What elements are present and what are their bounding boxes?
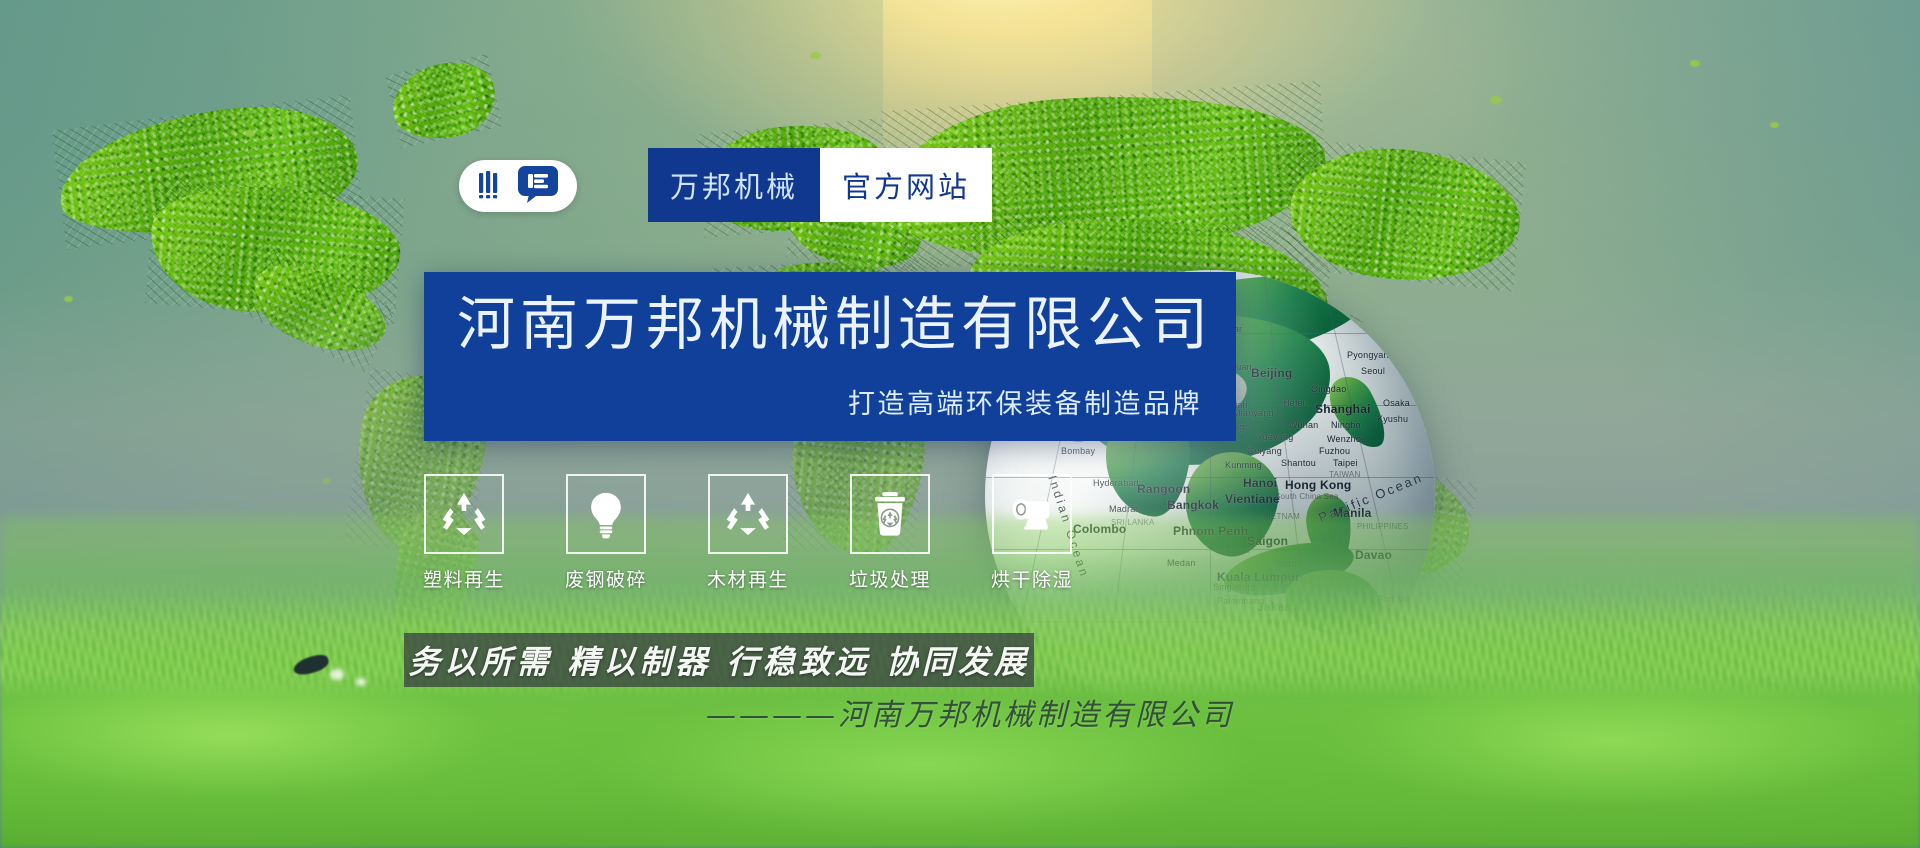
- globe-label: Shanghai: [1315, 402, 1371, 416]
- globe-label: Taipei: [1333, 458, 1358, 468]
- feature-label: 塑料再生: [423, 565, 505, 592]
- lightbulb-icon: [566, 474, 646, 554]
- feature-drying-dehumidify[interactable]: 烘干除湿: [988, 474, 1076, 592]
- globe-label: Ningbo: [1331, 420, 1361, 430]
- b-speech-bubble-icon: [516, 164, 560, 209]
- globe-label: Hyderabad: [1093, 478, 1139, 488]
- globe-label: Shantou: [1281, 458, 1316, 468]
- dryer-blower-icon: [992, 474, 1072, 554]
- tagline-bar: 务以所需 精以制器 行稳致远 协同发展: [404, 633, 1034, 687]
- globe-label: Wenzhou: [1327, 434, 1366, 444]
- globe-label: Hong Kong: [1285, 478, 1351, 492]
- page-title: 河南万邦机械制造有限公司: [457, 294, 1213, 355]
- globe-label: Fuzhou: [1319, 446, 1350, 456]
- recycle-icon: [708, 474, 788, 554]
- globe-label: Madras: [1109, 504, 1140, 514]
- globe-label: Hefei: [1283, 398, 1305, 408]
- hero-banner: UlaanbaatarBeijingLanzhouYinchuanXianKat…: [0, 0, 1920, 848]
- feature-wood-recycling[interactable]: 木材再生: [704, 474, 792, 592]
- globe-label: Qingdao: [1311, 384, 1346, 394]
- header-tabs[interactable]: 万邦机械 官方网站: [648, 148, 992, 222]
- tab-website[interactable]: 官方网站: [820, 148, 992, 222]
- globe-label: Beijing: [1251, 366, 1292, 380]
- site-logo[interactable]: [459, 160, 577, 212]
- globe-label: Osaka: [1383, 398, 1410, 408]
- feature-label: 废钢破碎: [565, 565, 647, 592]
- page-subtitle: 打造高端环保装备制造品牌: [848, 382, 1202, 421]
- globe-label: South China Sea: [1275, 492, 1339, 501]
- globe-label: Yueyang: [1257, 432, 1293, 442]
- tab-brand[interactable]: 万邦机械: [648, 148, 820, 222]
- feature-label: 烘干除湿: [991, 565, 1073, 592]
- globe-label: Kyushu: [1377, 414, 1408, 424]
- trash-bin-recycle-icon: [850, 474, 930, 554]
- w-mark-icon: [477, 169, 511, 204]
- tagline-text: 务以所需 精以制器 行稳致远 协同发展: [408, 637, 1029, 683]
- feature-steel-crushing[interactable]: 废钢破碎: [562, 474, 650, 592]
- tagline-attribution: ————河南万邦机械制造有限公司: [706, 690, 1234, 734]
- feature-plastic-recycling[interactable]: 塑料再生: [420, 474, 508, 592]
- feature-label: 木材再生: [707, 565, 789, 592]
- globe-label: Seoul: [1361, 366, 1385, 376]
- globe-label: Wuhan: [1289, 420, 1318, 430]
- globe-label: Hanoi: [1243, 476, 1277, 490]
- feature-waste-treatment[interactable]: 垃圾处理: [846, 474, 934, 592]
- recycle-icon: [424, 474, 504, 554]
- globe-label: Bombay: [1061, 446, 1095, 456]
- globe-label: Rangoon: [1137, 482, 1190, 496]
- globe-label: Mianyang: [1233, 408, 1274, 418]
- feature-icon-row: 塑料再生 废钢破碎 木材再生: [420, 474, 1076, 592]
- globe-label: Vientiane: [1225, 492, 1280, 506]
- company-title-panel: 河南万邦机械制造有限公司 打造高端环保装备制造品牌: [424, 272, 1236, 441]
- globe-label: Guiyang: [1247, 446, 1282, 456]
- globe-label: Pyongyang: [1347, 350, 1394, 360]
- feature-label: 垃圾处理: [849, 565, 931, 592]
- globe-label: Bangkok: [1167, 498, 1219, 512]
- globe-label: Kunming: [1225, 460, 1262, 470]
